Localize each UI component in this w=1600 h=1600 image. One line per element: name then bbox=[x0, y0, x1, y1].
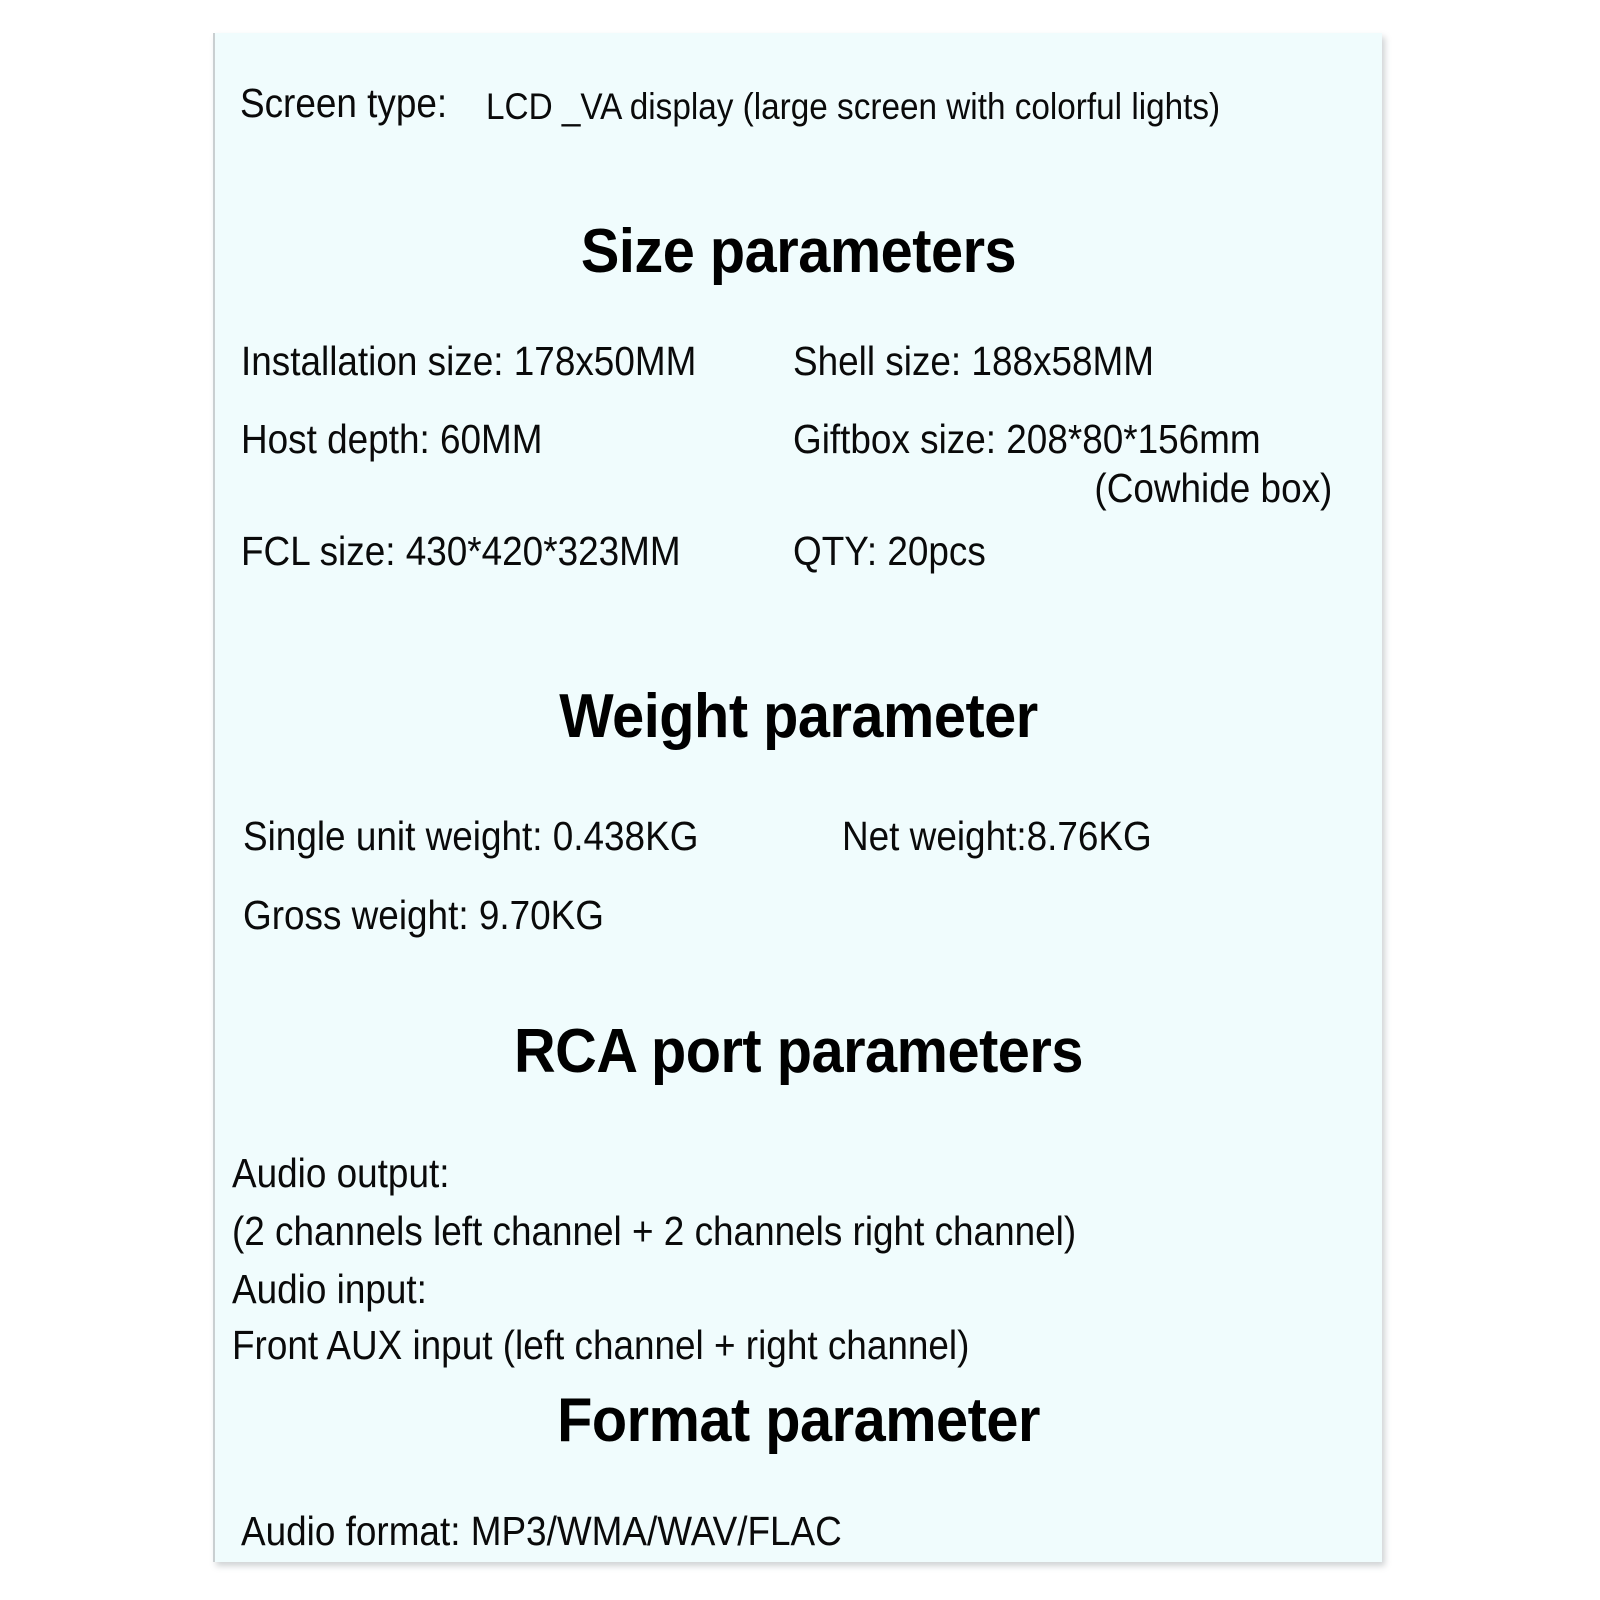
screen-type-value: LCD _VA display (large screen with color… bbox=[486, 88, 1220, 125]
section-heading-format: Format parameter bbox=[256, 1390, 1341, 1452]
spec-single-unit-weight: Single unit weight: 0.438KG bbox=[243, 816, 698, 857]
spec-gross-weight: Gross weight: 9.70KG bbox=[243, 895, 604, 936]
section-heading-rca-port: RCA port parameters bbox=[256, 1021, 1341, 1083]
section-heading-weight: Weight parameter bbox=[256, 686, 1341, 748]
spec-fcl-size: FCL size: 430*420*323MM bbox=[241, 531, 681, 572]
screen-type-label: Screen type: bbox=[240, 83, 447, 124]
spec-net-weight: Net weight:8.76KG bbox=[842, 816, 1152, 857]
spec-qty: QTY: 20pcs bbox=[793, 531, 986, 572]
spec-shell-size: Shell size: 188x58MM bbox=[793, 341, 1154, 382]
spec-audio-input-value: Front AUX input (left channel + right ch… bbox=[232, 1325, 969, 1366]
spec-giftbox-note: (Cowhide box) bbox=[1094, 468, 1332, 509]
spec-audio-input-label: Audio input: bbox=[232, 1269, 427, 1310]
spec-audio-output-value: (2 channels left channel + 2 channels ri… bbox=[232, 1211, 1076, 1252]
spec-installation-size: Installation size: 178x50MM bbox=[241, 341, 696, 382]
specification-panel: Screen type: LCD _VA display (large scre… bbox=[213, 33, 1382, 1562]
section-heading-size: Size parameters bbox=[256, 221, 1341, 283]
spec-host-depth: Host depth: 60MM bbox=[241, 419, 543, 460]
spec-giftbox-size: Giftbox size: 208*80*156mm bbox=[793, 419, 1261, 460]
spec-audio-output-label: Audio output: bbox=[232, 1153, 449, 1194]
spec-audio-format: Audio format: MP3/WMA/WAV/FLAC bbox=[241, 1511, 842, 1552]
